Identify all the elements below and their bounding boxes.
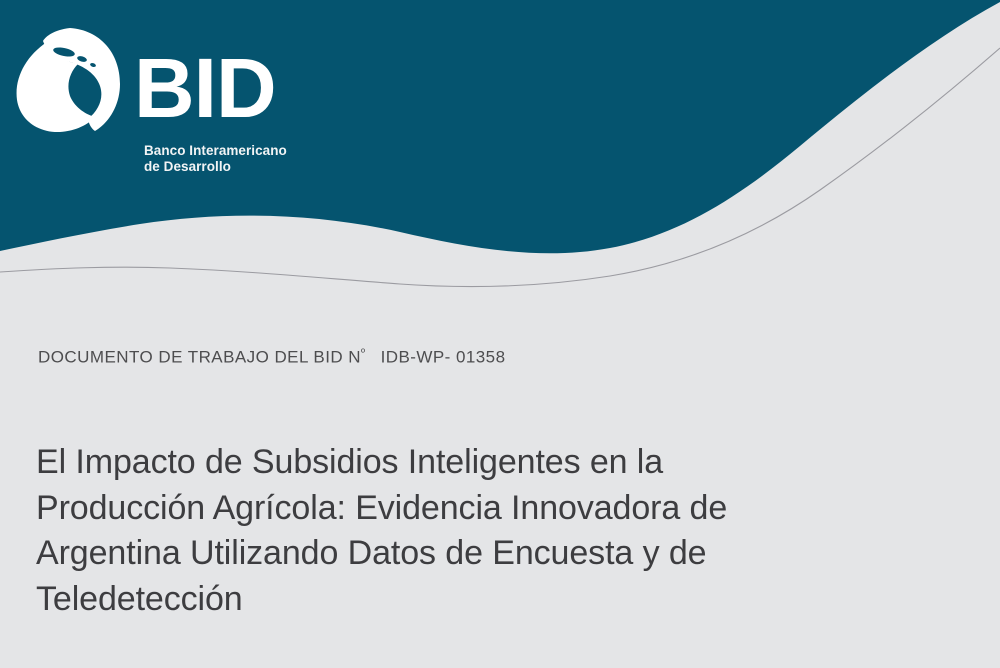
- bid-tagline: Banco Interamericano de Desarrollo: [144, 143, 374, 174]
- page-title: El Impacto de Subsidios Inteligentes en …: [36, 440, 916, 622]
- bid-circular-swirl-logo-icon: [12, 26, 122, 134]
- page-title-line-1: El Impacto de Subsidios Inteligentes en …: [36, 440, 916, 486]
- series-number-line: DOCUMENTO DE TRABAJO DEL BID Nº IDB-WP- …: [38, 342, 505, 369]
- page-title-line-4: Teledetección: [36, 577, 916, 623]
- series-number: IDB-WP- 01358: [381, 348, 506, 367]
- series-spacer: [365, 348, 381, 367]
- cover-page: BID Banco Interamericano de Desarrollo D…: [0, 0, 1000, 668]
- bid-logo-lockup: BID Banco Interamericano de Desarrollo: [10, 24, 370, 154]
- page-title-line-2: Producción Agrícola: Evidencia Innovador…: [36, 486, 916, 532]
- bid-wordmark: BID: [134, 46, 276, 130]
- page-title-line-3: Argentina Utilizando Datos de Encuesta y…: [36, 531, 916, 577]
- bid-tagline-line-2: de Desarrollo: [144, 159, 374, 175]
- bid-tagline-line-1: Banco Interamericano: [144, 143, 374, 159]
- series-label: DOCUMENTO DE TRABAJO DEL BID N: [38, 348, 361, 367]
